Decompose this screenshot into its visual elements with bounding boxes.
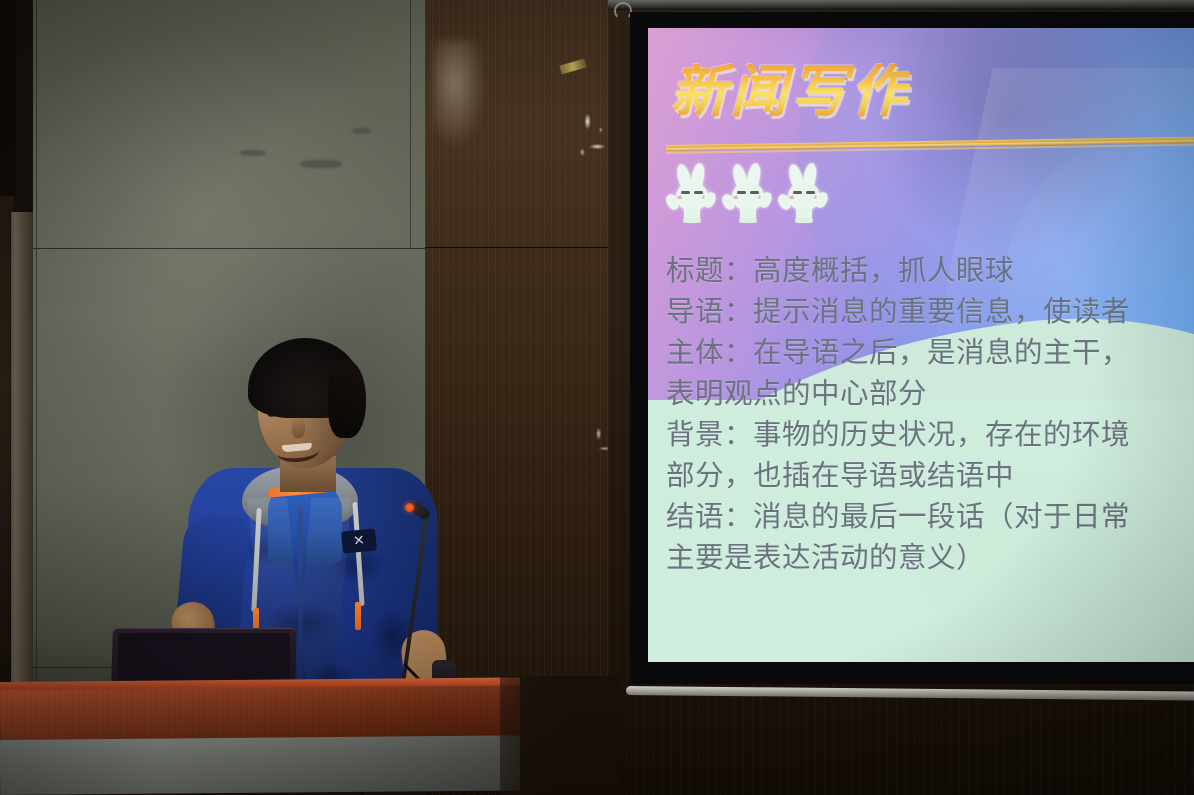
podium-front-panel <box>0 735 520 795</box>
ceiling-strip <box>608 0 1194 10</box>
wall-scuff-mark <box>352 128 370 134</box>
projection-screen: 新闻写作 <box>648 28 1194 662</box>
slide-line: 结语：消息的最后一段话（对于日常 <box>666 496 1194 537</box>
slide-line: 主体：在导语之后，是消息的主干， <box>666 332 1194 373</box>
podium-shadow-right <box>500 676 620 795</box>
microphone-led-indicator <box>405 503 414 512</box>
slide-line: 导语：提示消息的重要信息，使读者 <box>666 291 1194 332</box>
bunny-icon <box>666 164 716 222</box>
wall-seam-horizontal <box>33 248 425 249</box>
slide-title: 新闻写作 <box>670 64 910 121</box>
podium-wood-rail <box>0 685 520 742</box>
slide-line: 背景：事物的历史状况，存在的环境 <box>666 414 1194 455</box>
slide-bullet-icon-row <box>666 164 828 222</box>
screenshot-canvas: 新闻写作 <box>0 0 1194 795</box>
logo-x-icon: ✕ <box>352 533 365 548</box>
doorway-upper-shadow <box>0 0 16 200</box>
presenter-nose <box>292 416 305 438</box>
bunny-icon <box>722 164 772 222</box>
projection-screen-lower-frame <box>630 662 1194 684</box>
presenter-hair-side <box>328 360 366 438</box>
wall-scuff-mark <box>300 160 342 168</box>
slide-line: 主要是表达活动的意义） <box>666 537 1194 578</box>
wall-seam-vertical-left <box>36 0 37 690</box>
slide-line: 表明观点的中心部分 <box>666 373 1194 414</box>
slide-line: 标题：高度概括，抓人眼球 <box>666 250 1194 291</box>
wall-seam-vertical-right <box>410 0 411 248</box>
slide-line: 部分，也插在导语或结语中 <box>666 455 1194 496</box>
slide-body-text: 标题：高度概括，抓人眼球 导语：提示消息的重要信息，使读者 主体：在导语之后，是… <box>666 250 1194 578</box>
wood-gloss-reflection <box>433 40 487 150</box>
wall-scuff-mark <box>240 150 266 156</box>
bunny-icon <box>778 164 828 222</box>
presenter-chest-logo: ✕ <box>341 528 377 553</box>
